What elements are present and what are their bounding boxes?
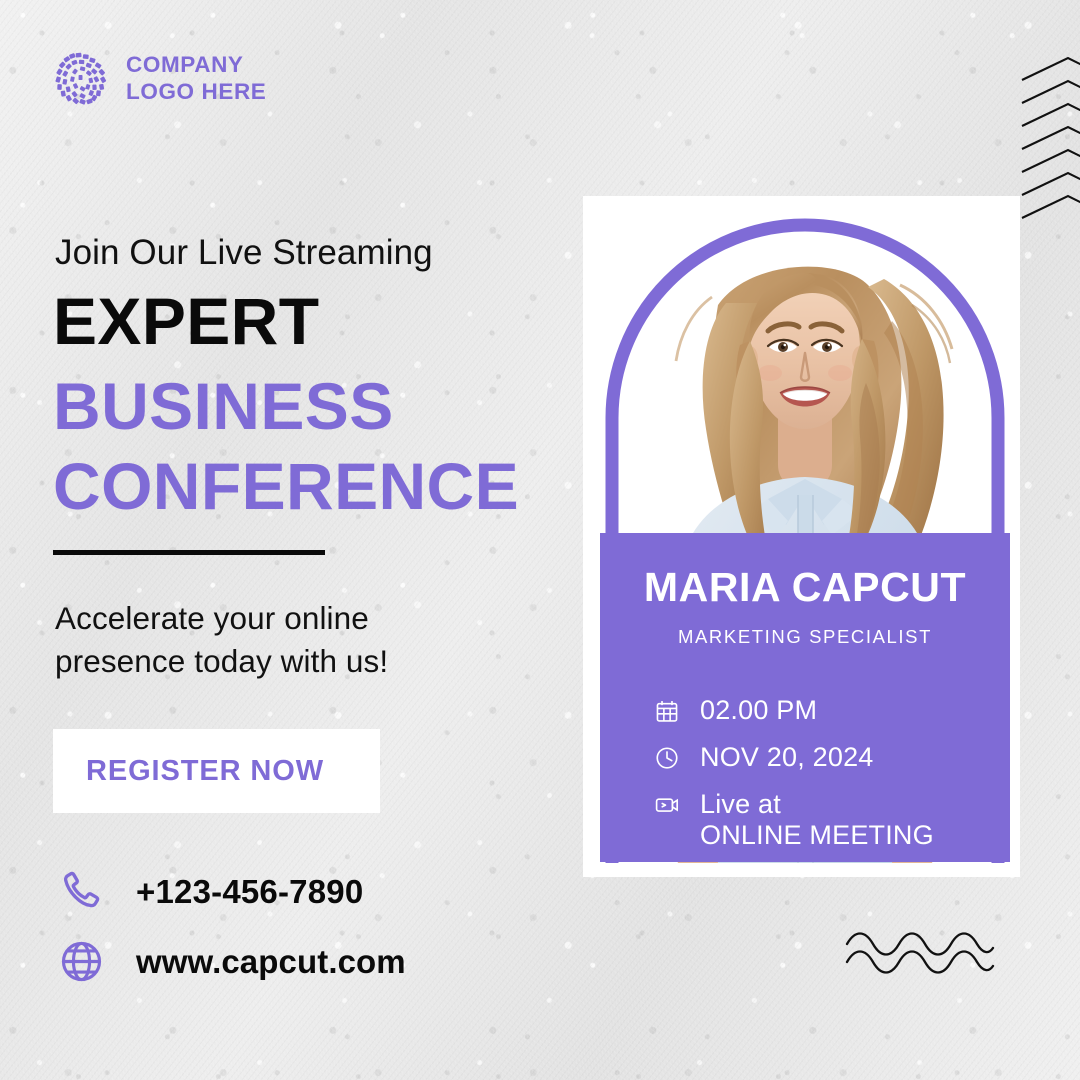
video-camera-icon	[654, 792, 680, 818]
detail-date-text: NOV 20, 2024	[700, 742, 874, 772]
company-logo: COMPANY LOGO HERE	[50, 47, 266, 110]
detail-row-location: Live at ONLINE MEETING	[654, 789, 1010, 849]
chevron-stack-decoration	[1000, 48, 1080, 228]
detail-location-text: Live at ONLINE MEETING	[700, 789, 934, 849]
speaker-role: MARKETING SPECIALIST	[600, 626, 1010, 648]
detail-time-text: 02.00 PM	[700, 695, 817, 725]
speaker-name: MARIA CAPCUT	[600, 567, 1010, 608]
globe-icon	[58, 938, 105, 985]
website-url: www.capcut.com	[136, 943, 406, 981]
tagline-line-1: Accelerate your online	[55, 597, 388, 640]
logo-line-1: COMPANY	[126, 52, 266, 79]
speaker-info-panel: MARIA CAPCUT MARKETING SPECIALIST 02.00 …	[600, 533, 1010, 862]
headline-line-3: CONFERENCE	[53, 453, 519, 519]
detail-row-time: 02.00 PM	[654, 695, 1010, 725]
logo-line-2: LOGO HERE	[126, 79, 266, 106]
logo-text: COMPANY LOGO HERE	[126, 52, 266, 105]
register-now-label: REGISTER NOW	[86, 755, 324, 788]
phone-number: +123-456-7890	[136, 873, 363, 911]
headline-line-1: EXPERT	[53, 288, 319, 354]
contact-phone[interactable]: +123-456-7890	[58, 868, 363, 915]
tagline-line-2: presence today with us!	[55, 640, 388, 683]
detail-location-line-1: Live at	[700, 789, 781, 819]
eyebrow-text: Join Our Live Streaming	[55, 233, 433, 273]
clock-icon	[654, 745, 680, 771]
double-wave-decoration	[845, 928, 995, 976]
sphere-dots-logo-icon	[50, 47, 113, 110]
detail-location-line-2: ONLINE MEETING	[700, 820, 934, 850]
tagline: Accelerate your online presence today wi…	[55, 597, 388, 683]
divider-rule	[53, 550, 325, 555]
register-now-button[interactable]: REGISTER NOW	[53, 729, 380, 813]
contact-website[interactable]: www.capcut.com	[58, 938, 406, 985]
phone-icon	[58, 868, 105, 915]
detail-row-date: NOV 20, 2024	[654, 742, 1010, 772]
event-details-list: 02.00 PM NOV 20, 2024 Live at	[654, 695, 1010, 850]
calendar-icon	[654, 698, 680, 724]
headline-line-2: BUSINESS	[53, 373, 394, 439]
